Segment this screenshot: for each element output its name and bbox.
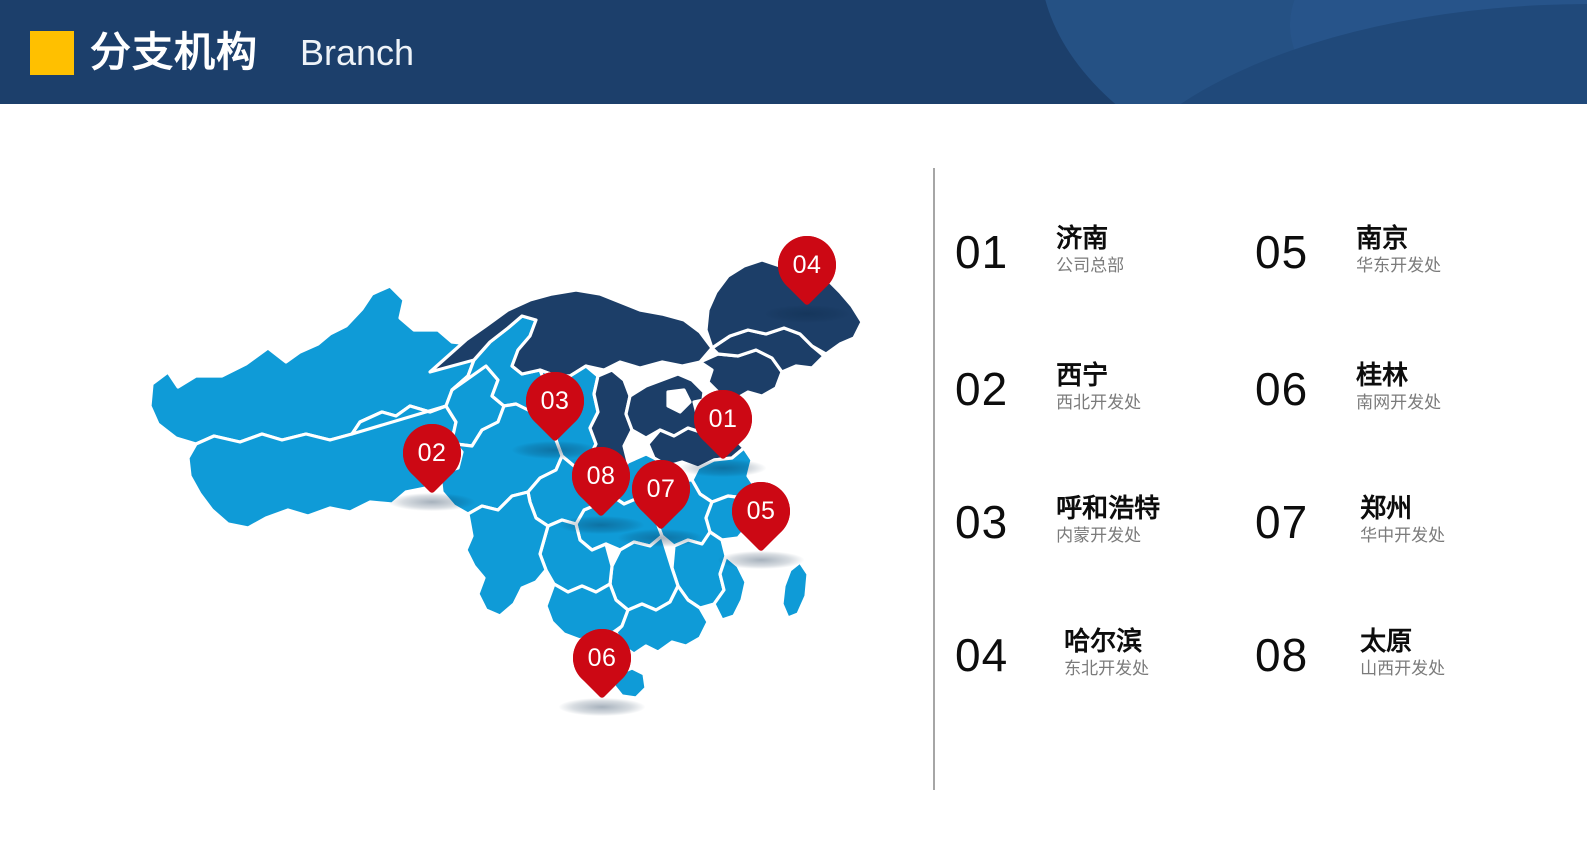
map-pin-06[interactable]: 06 bbox=[573, 629, 631, 709]
branch-item-08[interactable]: 08 太原 山西开发处 bbox=[1255, 625, 1445, 681]
pin-head-circle: 01 bbox=[694, 390, 752, 448]
pin-label: 03 bbox=[541, 389, 570, 414]
branch-number: 08 bbox=[1255, 629, 1308, 681]
pin-shadow bbox=[680, 459, 766, 477]
map-pin-05[interactable]: 05 bbox=[732, 482, 790, 562]
map-pin-02[interactable]: 02 bbox=[403, 424, 461, 504]
pin-head-circle: 07 bbox=[632, 460, 690, 518]
branch-department: 内蒙开发处 bbox=[1056, 524, 1160, 548]
header-decoration-wave-1 bbox=[1040, 0, 1587, 104]
branch-department: 华东开发处 bbox=[1356, 254, 1441, 278]
pin-shadow bbox=[389, 493, 475, 511]
page-title-english: Branch bbox=[300, 23, 414, 83]
pin-head-circle: 06 bbox=[573, 629, 631, 687]
branch-number: 02 bbox=[955, 363, 1008, 415]
branch-city: 哈尔滨 bbox=[1064, 625, 1149, 657]
branch-department: 山西开发处 bbox=[1360, 657, 1445, 681]
branch-city: 太原 bbox=[1360, 625, 1445, 657]
pin-label: 02 bbox=[418, 441, 447, 466]
branch-item-07[interactable]: 07 郑州 华中开发处 bbox=[1255, 492, 1445, 548]
pin-shadow bbox=[559, 698, 645, 716]
map-pin-08[interactable]: 08 bbox=[572, 447, 630, 527]
branch-city: 西宁 bbox=[1056, 359, 1141, 391]
branch-list-panel: 01 济南 公司总部 02 西宁 西北开发处 03 呼和浩特 内蒙开发处 04 … bbox=[933, 104, 1587, 850]
branch-department: 西北开发处 bbox=[1056, 391, 1141, 415]
header-decoration-wave-3 bbox=[1290, 0, 1587, 104]
map-pin-01[interactable]: 01 bbox=[694, 390, 752, 470]
branch-item-01[interactable]: 01 济南 公司总部 bbox=[955, 222, 1124, 278]
page-title-chinese: 分支机构 bbox=[90, 21, 258, 83]
pin-label: 04 bbox=[793, 253, 822, 278]
branch-number: 06 bbox=[1255, 363, 1308, 415]
branch-number: 05 bbox=[1255, 226, 1308, 278]
pin-shadow bbox=[558, 516, 644, 534]
pin-shadow bbox=[764, 305, 850, 323]
branch-department: 公司总部 bbox=[1056, 254, 1124, 278]
branch-city: 南京 bbox=[1356, 222, 1441, 254]
china-map-panel: 01 02 03 04 05 06 bbox=[0, 104, 930, 850]
pin-head-circle: 05 bbox=[732, 482, 790, 540]
pin-head-circle: 08 bbox=[572, 447, 630, 505]
branch-text-group: 西宁 西北开发处 bbox=[1056, 359, 1141, 415]
page-header: 分支机构 Branch bbox=[0, 0, 1587, 104]
pin-head-circle: 04 bbox=[778, 236, 836, 294]
pin-head-circle: 02 bbox=[403, 424, 461, 482]
branch-item-03[interactable]: 03 呼和浩特 内蒙开发处 bbox=[955, 492, 1160, 548]
branch-number: 03 bbox=[955, 496, 1008, 548]
branch-item-02[interactable]: 02 西宁 西北开发处 bbox=[955, 359, 1141, 415]
branch-city: 济南 bbox=[1056, 222, 1124, 254]
branch-text-group: 郑州 华中开发处 bbox=[1360, 492, 1445, 548]
map-pin-03[interactable]: 03 bbox=[526, 372, 584, 452]
branch-text-group: 南京 华东开发处 bbox=[1356, 222, 1441, 278]
branch-text-group: 哈尔滨 东北开发处 bbox=[1064, 625, 1149, 681]
pin-shadow bbox=[618, 529, 704, 547]
branch-item-06[interactable]: 06 桂林 南网开发处 bbox=[1255, 359, 1441, 415]
map-pin-04[interactable]: 04 bbox=[778, 236, 836, 316]
pin-head-circle: 03 bbox=[526, 372, 584, 430]
branch-text-group: 太原 山西开发处 bbox=[1360, 625, 1445, 681]
pin-label: 07 bbox=[647, 477, 676, 502]
pin-label: 06 bbox=[588, 646, 617, 671]
branch-department: 东北开发处 bbox=[1064, 657, 1149, 681]
vertical-divider bbox=[933, 168, 935, 790]
branch-department: 华中开发处 bbox=[1360, 524, 1445, 548]
branch-city: 桂林 bbox=[1356, 359, 1441, 391]
branch-number: 01 bbox=[955, 226, 1008, 278]
branch-item-05[interactable]: 05 南京 华东开发处 bbox=[1255, 222, 1441, 278]
branch-item-04[interactable]: 04 哈尔滨 东北开发处 bbox=[955, 625, 1149, 681]
branch-text-group: 桂林 南网开发处 bbox=[1356, 359, 1441, 415]
branch-number: 04 bbox=[955, 629, 1008, 681]
pin-label: 08 bbox=[587, 464, 616, 489]
pin-shadow bbox=[718, 551, 804, 569]
pin-label: 05 bbox=[747, 499, 776, 524]
branch-text-group: 济南 公司总部 bbox=[1056, 222, 1124, 278]
accent-square-icon bbox=[30, 31, 74, 75]
province-taiwan bbox=[782, 562, 808, 618]
branch-text-group: 呼和浩特 内蒙开发处 bbox=[1056, 492, 1160, 548]
china-map-graphic bbox=[0, 104, 930, 850]
branch-number: 07 bbox=[1255, 496, 1308, 548]
branch-department: 南网开发处 bbox=[1356, 391, 1441, 415]
pin-label: 01 bbox=[709, 407, 738, 432]
branch-city: 呼和浩特 bbox=[1056, 492, 1160, 524]
branch-city: 郑州 bbox=[1360, 492, 1445, 524]
header-decoration-wave-2 bbox=[1090, 4, 1587, 104]
